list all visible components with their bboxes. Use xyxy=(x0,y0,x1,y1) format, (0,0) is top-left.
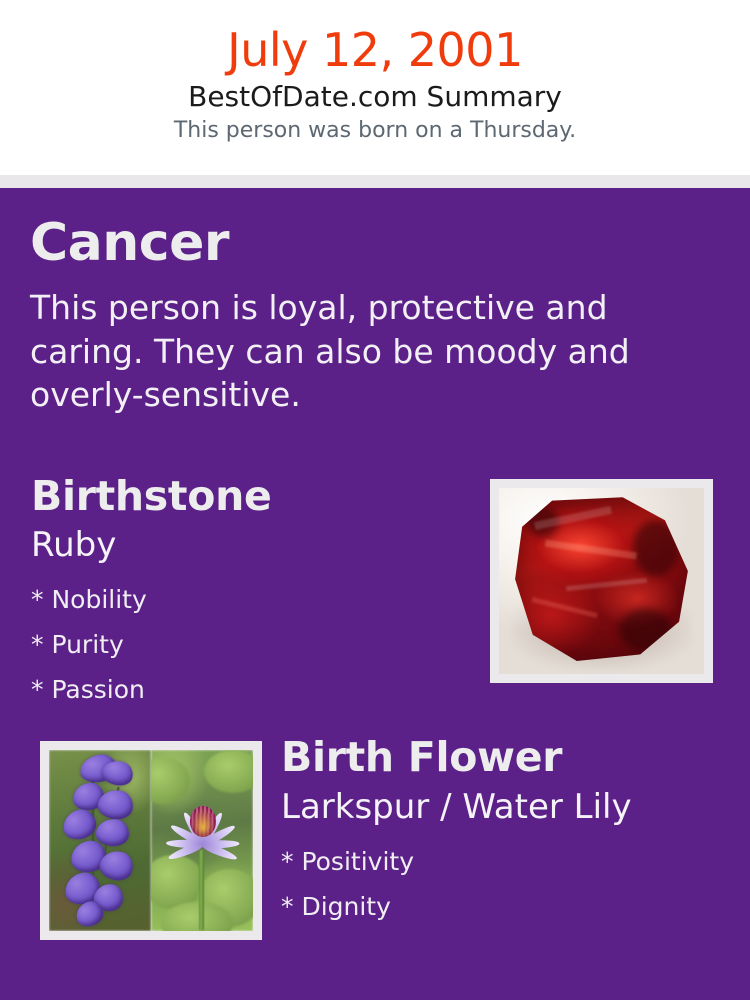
zodiac-sign-title: Cancer xyxy=(30,217,229,269)
header-divider xyxy=(0,175,750,188)
birthstone-image-frame xyxy=(490,479,713,683)
list-item: * Passion xyxy=(31,667,147,712)
list-item: * Purity xyxy=(31,622,147,667)
birthstone-trait-list: * Nobility * Purity * Passion xyxy=(31,577,147,712)
water-lily-photo xyxy=(151,750,253,931)
site-name-subtitle: BestOfDate.com Summary xyxy=(0,74,750,113)
page-title-date: July 12, 2001 xyxy=(0,0,750,74)
summary-card: July 12, 2001 BestOfDate.com Summary Thi… xyxy=(0,0,750,1000)
list-item: * Dignity xyxy=(281,884,414,929)
birthflower-name: Larkspur / Water Lily xyxy=(281,790,632,824)
birthflower-image xyxy=(49,750,253,931)
weekday-note: This person was born on a Thursday. xyxy=(0,113,750,143)
details-panel: Cancer This person is loyal, protective … xyxy=(0,188,750,1000)
zodiac-description: This person is loyal, protective and car… xyxy=(30,286,640,417)
birthstone-heading: Birthstone xyxy=(31,476,271,517)
birthstone-image xyxy=(499,488,704,674)
birthstone-name: Ruby xyxy=(31,528,116,562)
birthflower-image-frame xyxy=(40,741,262,940)
birthflower-trait-list: * Positivity * Dignity xyxy=(281,839,414,929)
lily-stamen xyxy=(190,806,215,836)
birthflower-heading: Birth Flower xyxy=(281,737,562,778)
card-header: July 12, 2001 BestOfDate.com Summary Thi… xyxy=(0,0,750,175)
larkspur-photo xyxy=(49,750,151,931)
list-item: * Positivity xyxy=(281,839,414,884)
list-item: * Nobility xyxy=(31,577,147,622)
water-lily-bloom-icon xyxy=(171,783,234,863)
